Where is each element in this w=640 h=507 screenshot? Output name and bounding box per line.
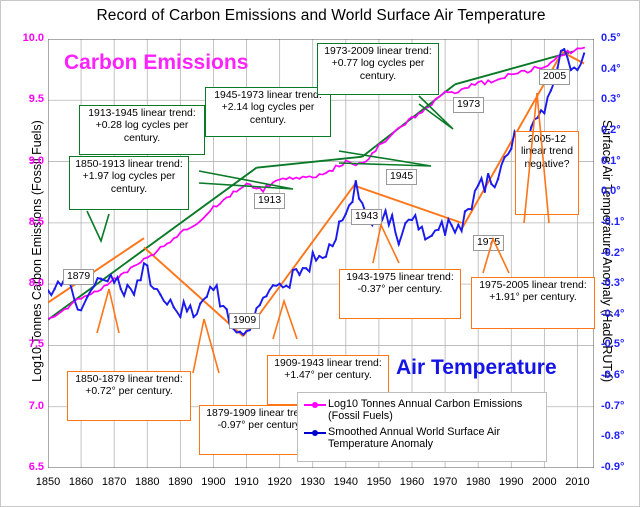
y-right-tick: -0.9°	[601, 461, 640, 473]
year-marker: 1975	[473, 235, 504, 251]
y-axis-left-title: Log10 Tonnes Carbon Emissions (Fossil Fu…	[30, 51, 44, 451]
carbon-trend-callout: 1850-1913 linear trend: +1.97 log cycles…	[69, 156, 189, 210]
y-right-tick: -0.2°	[601, 247, 640, 259]
legend-swatch-temperature-icon	[302, 427, 328, 439]
y-right-tick: 0.0°	[601, 185, 640, 197]
y-right-tick: 0.1°	[601, 155, 640, 167]
y-left-tick: 8.5	[0, 216, 44, 228]
y-left-tick: 10.0	[0, 32, 44, 44]
temperature-trend-callout: 1943-1975 linear trend: -0.37° per centu…	[339, 269, 461, 319]
temperature-trend-callout: 1975-2005 linear trend: +1.91° per centu…	[471, 277, 595, 329]
y-right-tick: -0.5°	[601, 338, 640, 350]
legend-label-carbon: Log10 Tonnes Annual Carbon Emissions (Fo…	[328, 398, 542, 423]
y-left-tick: 9.0	[0, 155, 44, 167]
y-right-tick: 0.5°	[601, 32, 640, 44]
air-temperature-label: Air Temperature	[396, 356, 557, 380]
temperature-trend-callout: 1850-1879 linear trend: +0.72° per centu…	[67, 371, 191, 421]
y-right-tick: -0.8°	[601, 430, 640, 442]
carbon-trend-callout: 1973-2009 linear trend: +0.77 log cycles…	[317, 43, 439, 95]
y-left-tick: 6.5	[0, 461, 44, 473]
legend-item: Smoothed Annual World Surface Air Temper…	[302, 426, 542, 451]
legend-swatch-carbon-icon	[302, 399, 328, 411]
carbon-emissions-label: Carbon Emissions	[64, 51, 248, 75]
y-left-tick: 7.0	[0, 400, 44, 412]
y-right-tick: -0.6°	[601, 369, 640, 381]
y-right-tick: 0.2°	[601, 124, 640, 136]
chart-figure: Record of Carbon Emissions and World Sur…	[0, 0, 640, 507]
y-right-tick: 0.3°	[601, 93, 640, 105]
carbon-trend-callout: 1945-1973 linear trend: +2.14 log cycles…	[205, 87, 331, 137]
y-right-tick: -0.7°	[601, 400, 640, 412]
y-left-tick: 9.5	[0, 93, 44, 105]
legend-item: Log10 Tonnes Annual Carbon Emissions (Fo…	[302, 398, 542, 423]
y-right-tick: -0.3°	[601, 277, 640, 289]
year-marker: 1909	[229, 313, 260, 329]
y-right-tick: -0.1°	[601, 216, 640, 228]
carbon-trend-callout: 1913-1945 linear trend: +0.28 log cycles…	[79, 105, 205, 155]
year-marker: 2005	[539, 69, 570, 85]
y-right-tick: -0.4°	[601, 308, 640, 320]
legend-label-temperature: Smoothed Annual World Surface Air Temper…	[328, 426, 542, 451]
chart-title: Record of Carbon Emissions and World Sur…	[1, 7, 640, 25]
x-tick: 2010	[554, 476, 600, 488]
y-left-tick: 7.5	[0, 338, 44, 350]
year-marker: 1945	[386, 169, 417, 185]
temperature-trend-callout: 2005-12 linear trend negative?	[515, 131, 579, 215]
year-marker: 1879	[63, 269, 94, 285]
year-marker: 1973	[453, 97, 484, 113]
y-left-tick: 8.0	[0, 277, 44, 289]
year-marker: 1943	[351, 209, 382, 225]
y-right-tick: 0.4°	[601, 63, 640, 75]
year-marker: 1913	[254, 193, 285, 209]
legend: Log10 Tonnes Annual Carbon Emissions (Fo…	[297, 392, 547, 462]
